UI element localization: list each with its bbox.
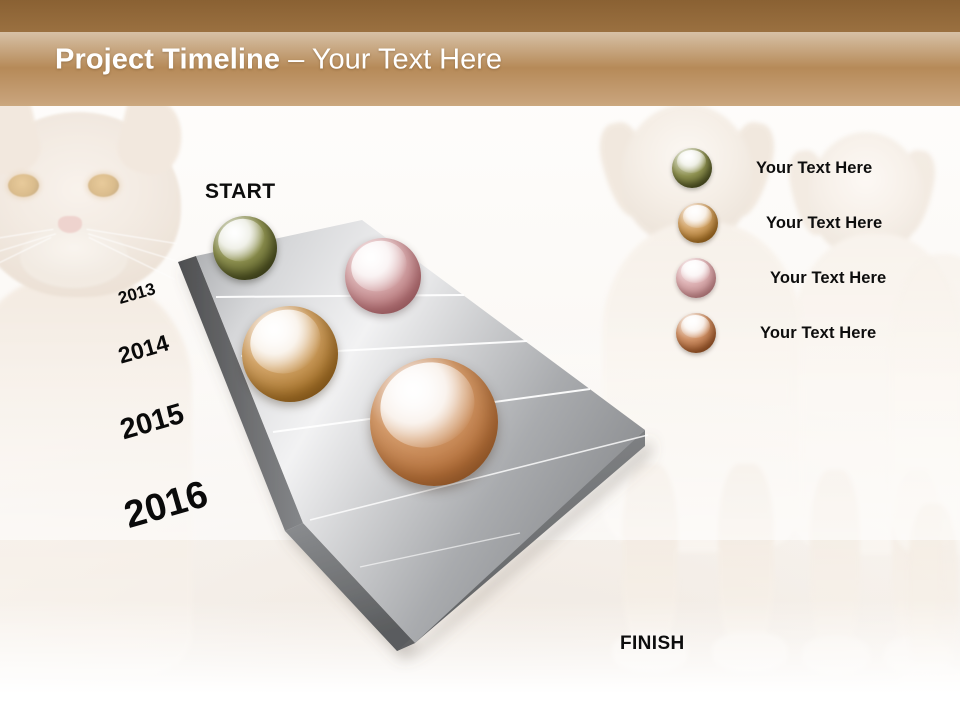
milestone-sphere-2016[interactable] bbox=[370, 358, 498, 486]
legend-item[interactable]: Your Text Here bbox=[676, 258, 886, 298]
legend-item-label: Your Text Here bbox=[756, 159, 872, 178]
legend-item[interactable]: Your Text Here bbox=[672, 148, 872, 188]
page-title-bold: Project Timeline bbox=[55, 44, 280, 76]
legend-item[interactable]: Your Text Here bbox=[678, 203, 882, 243]
slide-canvas: 2013 2014 2015 2016 START FINISH Your Te… bbox=[0, 0, 960, 720]
finish-label: FINISH bbox=[620, 633, 685, 655]
legend-bullet-icon bbox=[676, 258, 716, 298]
legend-item[interactable]: Your Text Here bbox=[676, 313, 876, 353]
legend-item-label: Your Text Here bbox=[766, 214, 882, 233]
legend-item-label: Your Text Here bbox=[760, 324, 876, 343]
legend-item-label: Your Text Here bbox=[770, 269, 886, 288]
milestone-sphere-start[interactable] bbox=[213, 216, 277, 280]
page-title: Project Timeline – Your Text Here bbox=[55, 46, 502, 75]
page-title-subtitle: – Your Text Here bbox=[280, 44, 502, 76]
legend-bullet-icon bbox=[678, 203, 718, 243]
slide-header-band: Project Timeline – Your Text Here bbox=[0, 0, 960, 106]
milestone-sphere-2014[interactable] bbox=[242, 306, 338, 402]
legend-bullet-icon bbox=[676, 313, 716, 353]
legend-bullet-icon bbox=[672, 148, 712, 188]
milestone-sphere-2015[interactable] bbox=[345, 238, 421, 314]
start-label: START bbox=[205, 180, 275, 204]
